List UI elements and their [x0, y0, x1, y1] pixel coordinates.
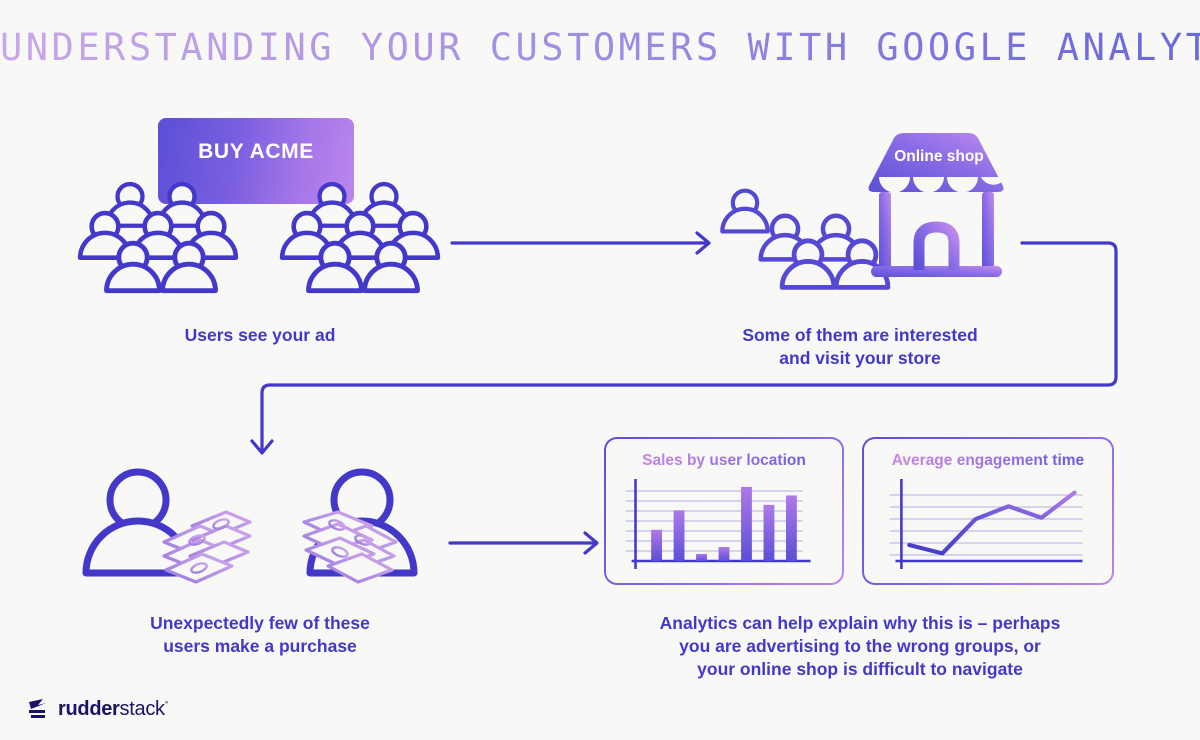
chart-title-sales: Sales by user location	[606, 452, 842, 470]
caption-visit-store: Some of them are interested and visit yo…	[660, 324, 1060, 370]
chart-title-engagement: Average engagement time	[864, 452, 1112, 470]
rudderstack-mark-icon	[26, 697, 48, 721]
crowd-ad-left	[80, 184, 236, 291]
arrow-ad-to-store	[452, 233, 709, 253]
caption-line: your online shop is difficult to navigat…	[600, 658, 1120, 681]
bar	[696, 554, 707, 561]
buyer-left	[86, 472, 250, 582]
crowd-ad-right	[282, 184, 438, 291]
logo-trademark: °	[165, 699, 168, 709]
bar-chart-sales	[606, 473, 842, 577]
online-shop-label: Online shop	[869, 148, 1009, 166]
crowd-store	[722, 191, 888, 288]
line-chart-engagement	[864, 473, 1112, 577]
bar	[764, 505, 775, 561]
bar	[741, 487, 752, 561]
bar	[786, 495, 797, 561]
chart-card-average-engagement-time[interactable]: Average engagement time	[862, 437, 1114, 585]
bar	[719, 547, 730, 561]
rudderstack-wordmark: rudderstack°	[58, 698, 168, 721]
buyer-right	[304, 472, 414, 582]
caption-line: Users see your ad	[60, 324, 460, 347]
caption-line: Analytics can help explain why this is –…	[600, 612, 1120, 635]
chart-card-sales-by-user-location[interactable]: Sales by user location	[604, 437, 844, 585]
arrow-buyers-to-charts	[450, 533, 597, 553]
logo-light: stack	[120, 698, 165, 720]
bar	[674, 510, 685, 561]
rudderstack-logo[interactable]: rudderstack°	[26, 697, 168, 721]
caption-line: Unexpectedly few of these	[60, 612, 460, 635]
logo-bold: rudder	[58, 698, 120, 720]
caption-line: Some of them are interested	[660, 324, 1060, 347]
caption-line: users make a purchase	[60, 635, 460, 658]
caption-few-purchase: Unexpectedly few of these users make a p…	[60, 612, 460, 658]
money-stack-left	[164, 512, 250, 582]
bar	[651, 530, 662, 561]
infographic-canvas: UNDERSTANDING YOUR CUSTOMERS WITH GOOGLE…	[0, 0, 1200, 740]
caption-analytics-explain: Analytics can help explain why this is –…	[600, 612, 1120, 681]
caption-line: you are advertising to the wrong groups,…	[600, 635, 1120, 658]
caption-line: and visit your store	[660, 347, 1060, 370]
caption-users-see-ad: Users see your ad	[60, 324, 460, 347]
